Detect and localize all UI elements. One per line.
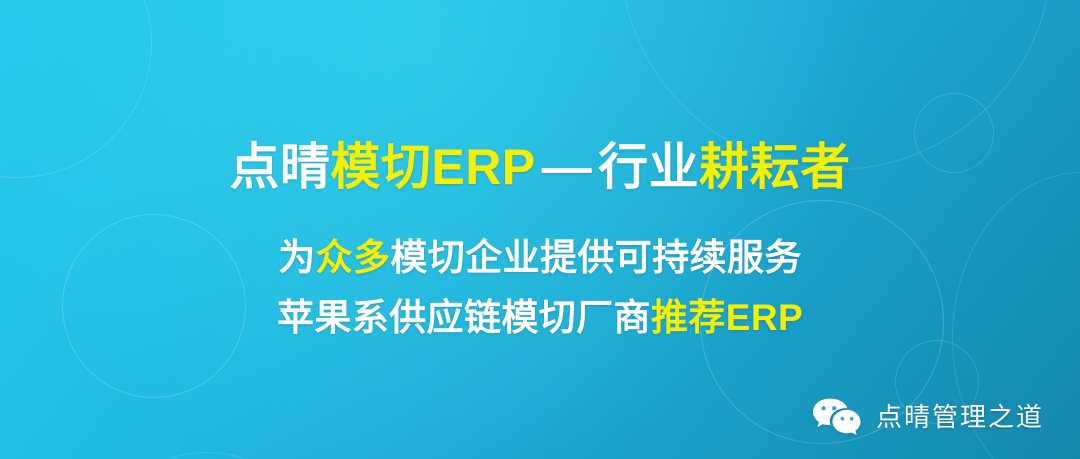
subtitle-2-part1: 苹果系供应链模切厂商 <box>277 297 651 338</box>
headline-separator-dash: — <box>536 139 599 195</box>
subtitle-1-accent: 众多 <box>316 237 391 278</box>
headline-segment-cultivator: 耕耘者 <box>699 139 851 195</box>
headline-segment-industry: 行业 <box>598 139 699 195</box>
subtitle-line-1: 为众多模切企业提供可持续服务 <box>0 228 1080 288</box>
subtitle-1-part2: 模切企业提供可持续服务 <box>390 237 801 278</box>
wechat-account-name: 点晴管理之道 <box>876 404 1044 430</box>
subtitle-1-part1: 为 <box>278 237 315 278</box>
subtitle-block: 为众多模切企业提供可持续服务 苹果系供应链模切厂商推荐ERP <box>0 228 1080 348</box>
wechat-logo-icon <box>812 397 864 437</box>
headline: 点晴模切ERP—行业耕耘者 <box>0 138 1080 196</box>
wechat-badge[interactable]: 点晴管理之道 <box>812 397 1044 437</box>
headline-segment-brand: 点晴 <box>229 139 330 195</box>
subtitle-2-accent: 推荐ERP <box>651 297 803 338</box>
promo-banner: 点晴模切ERP—行业耕耘者 为众多模切企业提供可持续服务 苹果系供应链模切厂商推… <box>0 0 1080 459</box>
headline-segment-product: 模切ERP <box>330 139 535 195</box>
subtitle-line-2: 苹果系供应链模切厂商推荐ERP <box>0 288 1080 348</box>
decorative-circle-left-bottom <box>88 452 326 459</box>
